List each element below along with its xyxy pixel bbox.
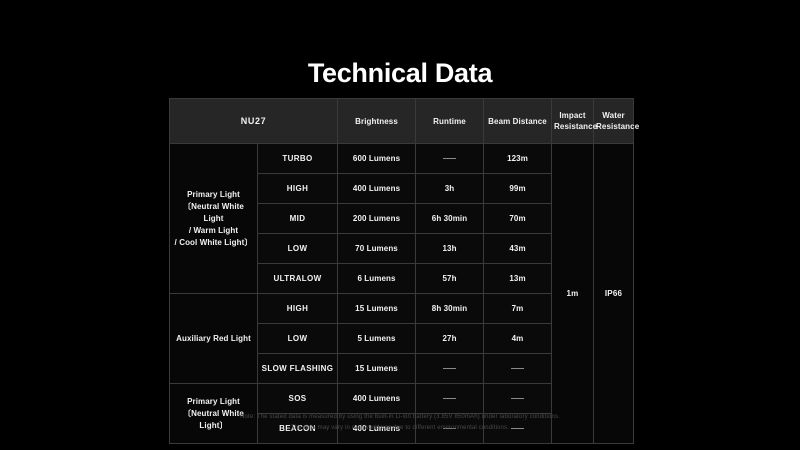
mode-cell: ULTRALOW: [258, 264, 338, 294]
brightness-cell: 70 Lumens: [338, 234, 416, 264]
footnote-line-2: The data may vary in real world use due …: [0, 423, 800, 434]
brightness-cell: 15 Lumens: [338, 354, 416, 384]
em-dash-placeholder: [443, 398, 456, 399]
mode-cell: HIGH: [258, 294, 338, 324]
beam-distance-cell: 123m: [484, 144, 552, 174]
column-header-brightness: Brightness: [338, 99, 416, 144]
beam-distance-cell: 43m: [484, 234, 552, 264]
column-header-model: NU27: [170, 99, 338, 144]
runtime-cell: 27h: [416, 324, 484, 354]
em-dash-placeholder: [443, 368, 456, 369]
runtime-cell: [416, 144, 484, 174]
beam-distance-cell: 4m: [484, 324, 552, 354]
runtime-cell: 3h: [416, 174, 484, 204]
beam-distance-cell: 99m: [484, 174, 552, 204]
runtime-cell: 8h 30min: [416, 294, 484, 324]
brightness-cell: 15 Lumens: [338, 294, 416, 324]
beam-distance-cell: 70m: [484, 204, 552, 234]
mode-cell: TURBO: [258, 144, 338, 174]
runtime-cell: 57h: [416, 264, 484, 294]
mode-cell: SLOW FLASHING: [258, 354, 338, 384]
beam-distance-cell: 7m: [484, 294, 552, 324]
table-row: Primary Light〔Neutral White Light/ Warm …: [170, 144, 634, 174]
em-dash-placeholder: [511, 398, 524, 399]
column-header-impact-resistance: Impact Resistance: [552, 99, 594, 144]
footnotes: Note: The stated data is measured by usi…: [0, 412, 800, 434]
technical-data-table: NU27 Brightness Runtime Beam Distance Im…: [169, 98, 634, 444]
mode-cell: SOS: [258, 384, 338, 414]
runtime-cell: [416, 354, 484, 384]
brightness-cell: 6 Lumens: [338, 264, 416, 294]
column-header-runtime: Runtime: [416, 99, 484, 144]
runtime-cell: 6h 30min: [416, 204, 484, 234]
column-header-beam-distance: Beam Distance: [484, 99, 552, 144]
em-dash-placeholder: [511, 368, 524, 369]
brightness-cell: 400 Lumens: [338, 174, 416, 204]
table-body: Primary Light〔Neutral White Light/ Warm …: [170, 144, 634, 444]
footnote-line-1: Note: The stated data is measured by usi…: [0, 412, 800, 423]
table-header-row: NU27 Brightness Runtime Beam Distance Im…: [170, 99, 634, 144]
water-resistance-value: IP66: [594, 144, 634, 444]
mode-cell: HIGH: [258, 174, 338, 204]
page-title: Technical Data: [0, 56, 800, 90]
technical-data-table-container: NU27 Brightness Runtime Beam Distance Im…: [169, 98, 633, 444]
light-group-label: Auxiliary Red Light: [170, 294, 258, 384]
brightness-cell: 600 Lumens: [338, 144, 416, 174]
runtime-cell: 13h: [416, 234, 484, 264]
mode-cell: MID: [258, 204, 338, 234]
light-group-label: Primary Light〔Neutral White Light/ Warm …: [170, 144, 258, 294]
beam-distance-cell: [484, 354, 552, 384]
brightness-cell: 5 Lumens: [338, 324, 416, 354]
beam-distance-cell: [484, 384, 552, 414]
brightness-cell: 400 Lumens: [338, 384, 416, 414]
mode-cell: LOW: [258, 324, 338, 354]
impact-resistance-value: 1m: [552, 144, 594, 444]
beam-distance-cell: 13m: [484, 264, 552, 294]
column-header-water-resistance: Water Resistance: [594, 99, 634, 144]
brightness-cell: 200 Lumens: [338, 204, 416, 234]
technical-data-page: Technical Data NU27 Brightness Runtime B…: [0, 0, 800, 450]
runtime-cell: [416, 384, 484, 414]
em-dash-placeholder: [443, 158, 456, 159]
table-header: NU27 Brightness Runtime Beam Distance Im…: [170, 99, 634, 144]
mode-cell: LOW: [258, 234, 338, 264]
